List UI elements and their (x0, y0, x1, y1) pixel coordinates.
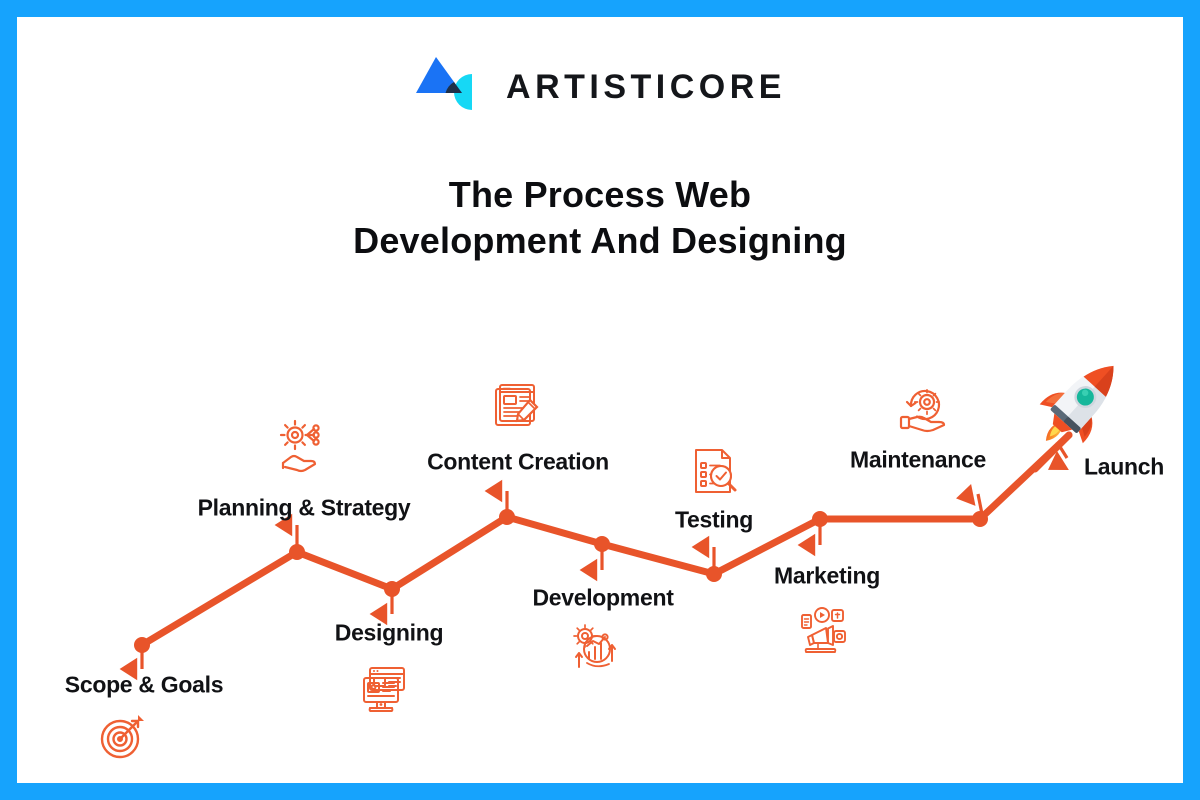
step-label-designing[interactable]: Designing (335, 620, 443, 647)
step-label-testing[interactable]: Testing (675, 507, 753, 534)
frame-border-left (0, 0, 17, 800)
hand-holding-gear-network-icon (277, 419, 333, 475)
target-bullseye-icon (94, 707, 150, 763)
infographic-canvas: ARTISTICORE The Process Web Development … (0, 0, 1200, 800)
document-pencil-edit-icon (488, 379, 544, 435)
frame-border-top (0, 0, 1200, 17)
checklist-magnifier-icon (686, 444, 742, 500)
frame-border-bottom (0, 783, 1200, 800)
step-label-development[interactable]: Development (532, 585, 673, 612)
hand-gear-refresh-icon (897, 381, 953, 437)
step-label-marketing[interactable]: Marketing (774, 563, 880, 590)
infographic-body: ARTISTICORE The Process Web Development … (17, 17, 1183, 783)
desktop-web-design-icon (358, 662, 414, 718)
megaphone-digital-marketing-icon (798, 605, 854, 661)
step-label-scope-goals[interactable]: Scope & Goals (65, 672, 223, 699)
gears-growth-chart-icon (569, 619, 625, 675)
rocket-launch-icon (1037, 351, 1123, 455)
step-label-content-creation[interactable]: Content Creation (427, 449, 609, 476)
step-label-launch[interactable]: Launch (1084, 454, 1164, 481)
step-label-maintenance[interactable]: Maintenance (850, 447, 986, 474)
frame-border-right (1183, 0, 1200, 800)
step-label-planning-strategy[interactable]: Planning & Strategy (198, 495, 411, 522)
